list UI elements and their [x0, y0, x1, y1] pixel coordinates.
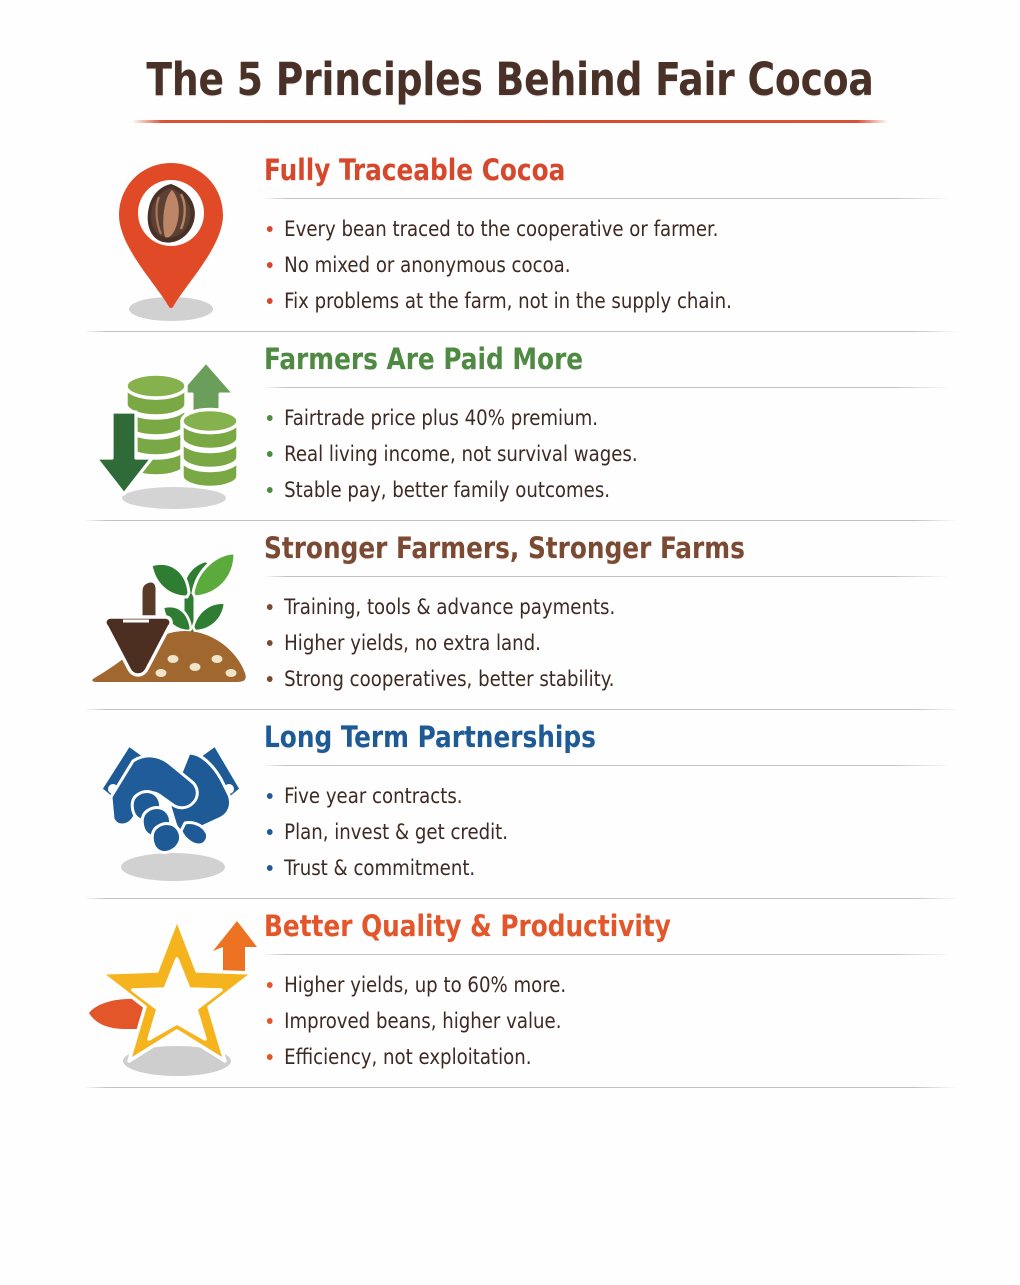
bullet-item: Real living income, not survival wages.: [264, 436, 923, 472]
section-divider: [84, 331, 958, 332]
section-divider: [84, 520, 958, 521]
bullet-item: Fix problems at the farm, not in the sup…: [264, 283, 923, 319]
bullet-item: Stable pay, better family outcomes.: [264, 472, 923, 508]
principle-icon-traceability: [78, 149, 264, 325]
shovel-seedling-soil-icon: [85, 535, 257, 703]
principle-text-stronger-farms: Stronger Farmers, Stronger Farms Trainin…: [264, 527, 958, 697]
principle-icon-partnerships: [78, 716, 264, 892]
principle-bullet-list: Fairtrade price plus 40% premium. Real l…: [264, 400, 950, 508]
coin-stacks-arrows-icon: [88, 346, 254, 514]
principle-text-fair-pay: Farmers Are Paid More Fairtrade price pl…: [264, 338, 958, 508]
principle-icon-stronger-farms: [78, 527, 264, 703]
principles-list: Fully Traceable Cocoa Every bean traced …: [0, 149, 1020, 1088]
principle-text-traceability: Fully Traceable Cocoa Every bean traced …: [264, 149, 958, 319]
principle-bullet-list: Five year contracts. Plan, invest & get …: [264, 778, 950, 886]
principle-section-partnerships: Long Term Partnerships Five year contrac…: [0, 716, 1020, 892]
section-divider: [84, 898, 958, 899]
star-rising-arrow-icon: [85, 913, 257, 1081]
principle-text-quality: Better Quality & Productivity Higher yie…: [264, 905, 958, 1075]
page-title: The 5 Principles Behind Fair Cocoa: [36, 56, 985, 103]
title-underline: [132, 120, 888, 123]
infographic-page: The 5 Principles Behind Fair Cocoa Full: [0, 0, 1020, 1285]
bullet-item: Fairtrade price plus 40% premium.: [264, 400, 923, 436]
bullet-item: Trust & commitment.: [264, 850, 923, 886]
heading-divider: [264, 576, 950, 577]
principle-heading: Fully Traceable Cocoa: [264, 155, 916, 187]
principle-section-stronger-farms: Stronger Farmers, Stronger Farms Trainin…: [0, 527, 1020, 703]
section-divider-final: [84, 1087, 958, 1088]
principle-icon-quality: [78, 905, 264, 1081]
map-pin-cocoa-bean-icon: [101, 157, 241, 325]
principle-heading: Farmers Are Paid More: [264, 344, 916, 376]
bullet-item: Every bean traced to the cooperative or …: [264, 211, 923, 247]
bullet-item: Higher yields, no extra land.: [264, 625, 923, 661]
title-block: The 5 Principles Behind Fair Cocoa: [0, 0, 1020, 123]
heading-divider: [264, 387, 950, 388]
section-divider: [84, 709, 958, 710]
heading-divider: [264, 765, 950, 766]
handshake-icon: [89, 727, 253, 889]
principle-section-traceability: Fully Traceable Cocoa Every bean traced …: [0, 149, 1020, 325]
bullet-item: Efficiency, not exploitation.: [264, 1039, 923, 1075]
bullet-item: Higher yields, up to 60% more.: [264, 967, 923, 1003]
principle-icon-fair-pay: [78, 338, 264, 514]
bullet-item: Improved beans, higher value.: [264, 1003, 923, 1039]
principle-heading: Stronger Farmers, Stronger Farms: [264, 533, 916, 565]
principle-text-partnerships: Long Term Partnerships Five year contrac…: [264, 716, 958, 886]
principle-heading: Long Term Partnerships: [264, 722, 916, 754]
heading-divider: [264, 198, 950, 199]
principle-section-fair-pay: Farmers Are Paid More Fairtrade price pl…: [0, 338, 1020, 514]
principle-bullet-list: Higher yields, up to 60% more. Improved …: [264, 967, 950, 1075]
bullet-item: Plan, invest & get credit.: [264, 814, 923, 850]
principle-section-quality: Better Quality & Productivity Higher yie…: [0, 905, 1020, 1081]
principle-bullet-list: Every bean traced to the cooperative or …: [264, 211, 950, 319]
bullet-item: Five year contracts.: [264, 778, 923, 814]
bullet-item: Training, tools & advance payments.: [264, 589, 923, 625]
heading-divider: [264, 954, 950, 955]
bullet-item: Strong cooperatives, better stability.: [264, 661, 923, 697]
bullet-item: No mixed or anonymous cocoa.: [264, 247, 923, 283]
principle-heading: Better Quality & Productivity: [264, 911, 916, 943]
principle-bullet-list: Training, tools & advance payments. High…: [264, 589, 950, 697]
